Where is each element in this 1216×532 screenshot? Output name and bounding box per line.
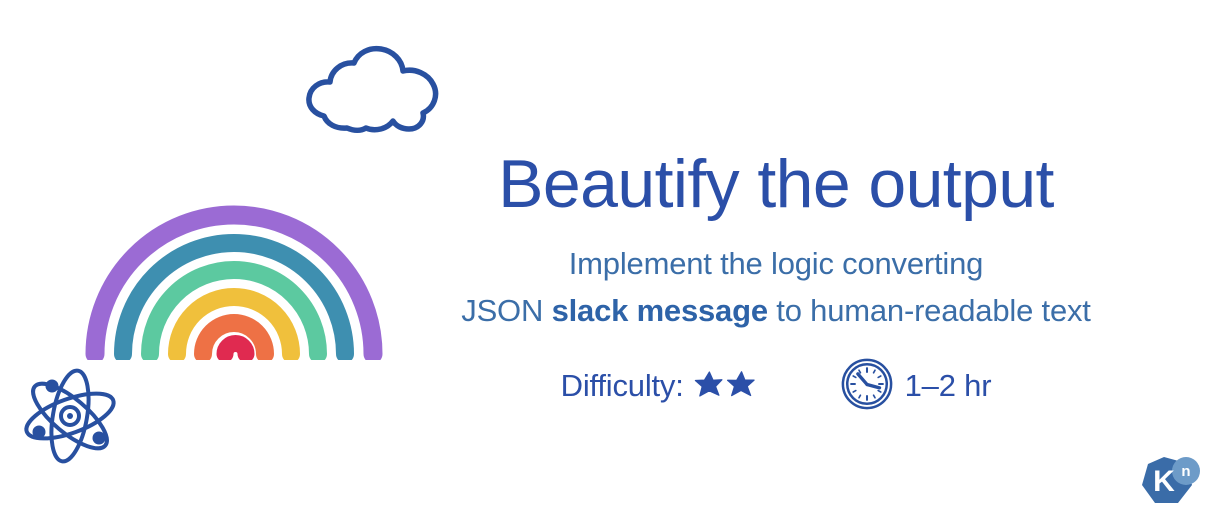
duration-group: 1–2 hr <box>840 356 992 416</box>
meta-row: Difficulty: <box>396 356 1156 416</box>
logo-letter-n: n <box>1172 457 1200 485</box>
star-icon <box>694 370 724 405</box>
subtitle-line-2-strong: slack message <box>552 293 768 328</box>
difficulty-group: Difficulty: <box>561 368 756 405</box>
atom-doodle-icon <box>18 366 122 466</box>
subtitle: Implement the logic converting JSON slac… <box>396 240 1156 334</box>
cloud-doodle-icon <box>303 44 448 134</box>
rainbow-doodle-icon <box>84 182 384 360</box>
text-block: Beautify the output Implement the logic … <box>396 150 1156 416</box>
difficulty-rating <box>694 370 756 405</box>
difficulty-label: Difficulty: <box>561 368 684 404</box>
clock-icon <box>840 357 894 416</box>
subtitle-line-2: JSON slack message to human-readable tex… <box>396 287 1156 334</box>
duration-label: 1–2 hr <box>905 368 992 404</box>
subtitle-line-2-prefix: JSON <box>461 293 551 328</box>
slide-canvas: Beautify the output Implement the logic … <box>0 0 1216 532</box>
star-icon <box>726 370 756 405</box>
page-title: Beautify the output <box>396 150 1156 218</box>
brand-logo[interactable]: K n <box>1139 457 1205 519</box>
subtitle-line-1: Implement the logic converting <box>396 240 1156 287</box>
subtitle-line-2-suffix: to human-readable text <box>768 293 1091 328</box>
